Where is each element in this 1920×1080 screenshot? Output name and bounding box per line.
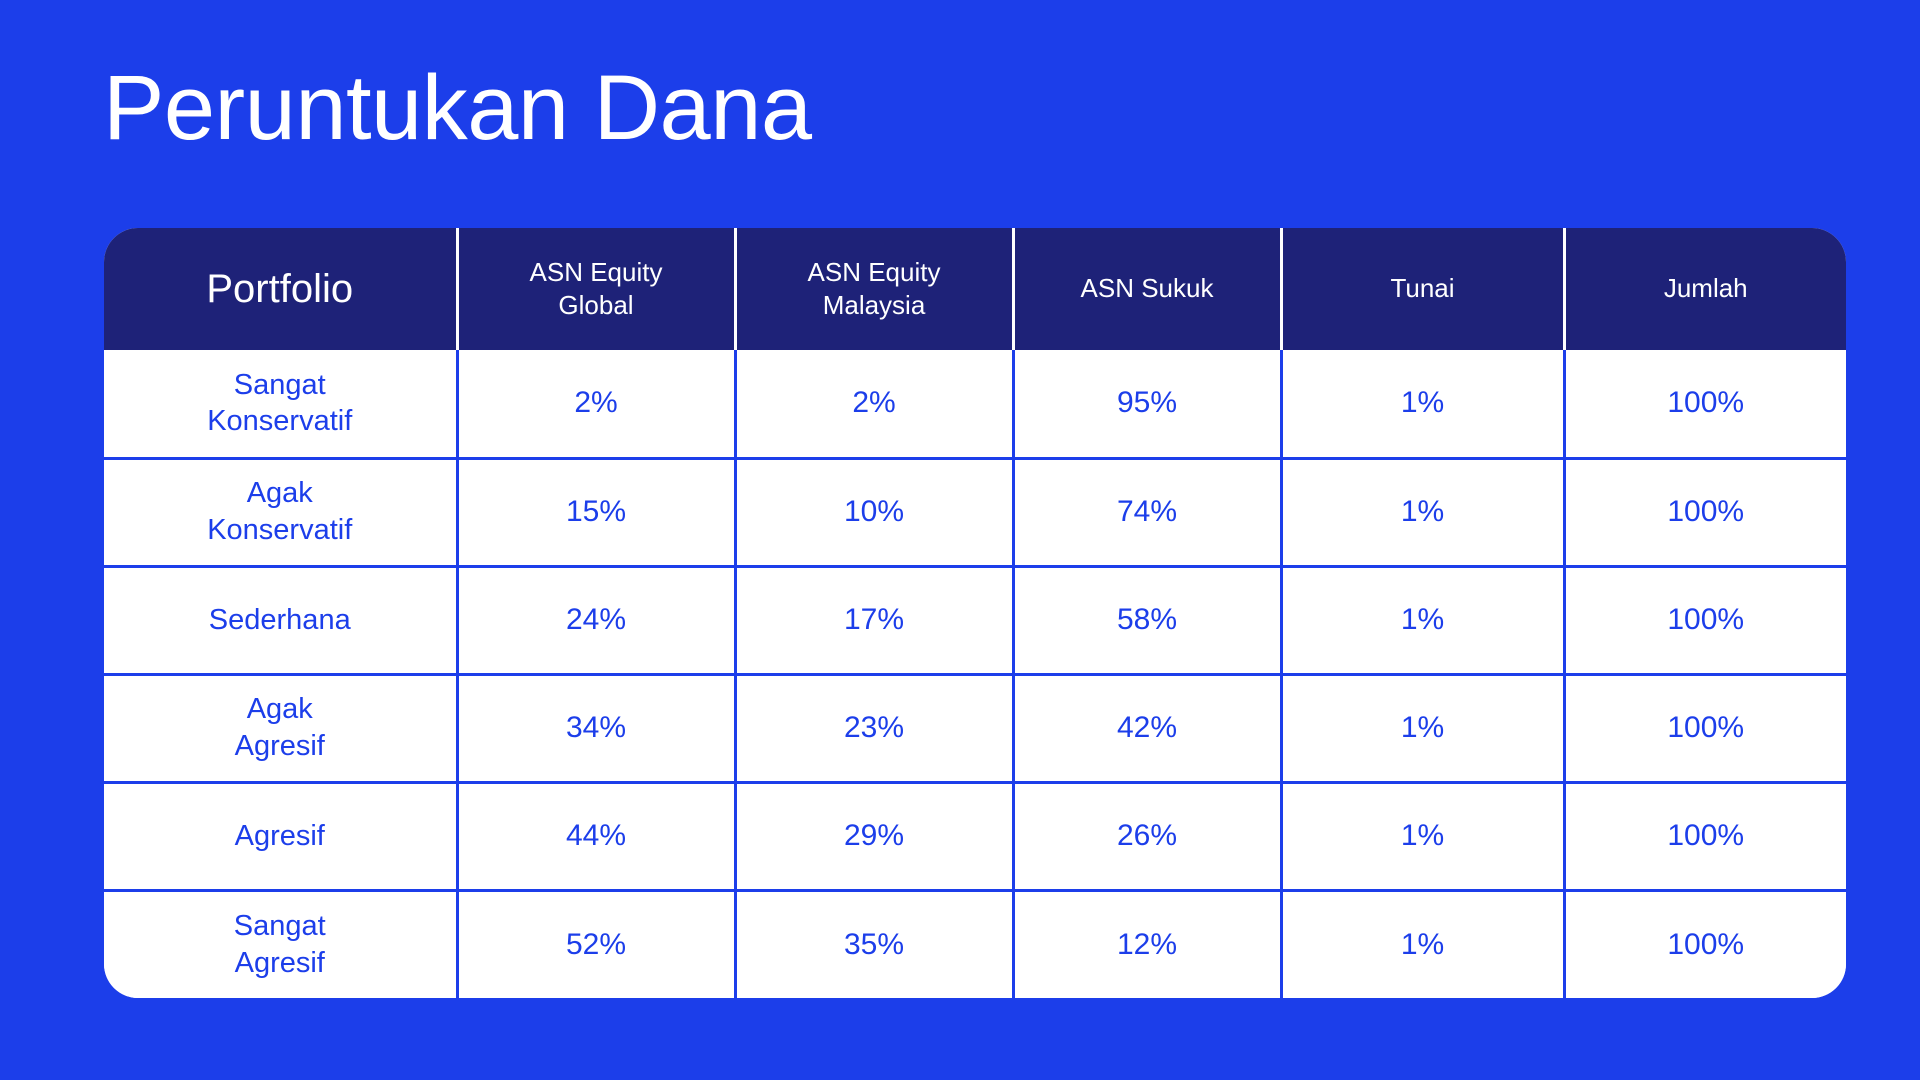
column-header-tunai: Tunai <box>1281 228 1564 350</box>
cell-jumlah: 100% <box>1564 566 1846 674</box>
cell-portfolio-line1: Sangat <box>114 367 446 404</box>
cell-jumlah: 100% <box>1564 782 1846 890</box>
column-header-asn-sukuk-line1: ASN Sukuk <box>1023 272 1272 305</box>
column-header-asn-equity-global-line2: Global <box>467 289 726 322</box>
cell-tunai: 1% <box>1281 350 1564 458</box>
table-row: Sangat Agresif 52% 35% 12% 1% 100% <box>104 890 1846 998</box>
cell-asn-equity-global: 52% <box>457 890 735 998</box>
column-header-portfolio-line1: Portfolio <box>112 267 448 311</box>
column-header-asn-equity-malaysia-line2: Malaysia <box>745 289 1004 322</box>
cell-portfolio-line1: Agak <box>114 475 446 512</box>
cell-asn-equity-malaysia: 23% <box>735 674 1013 782</box>
cell-portfolio-line2: Konservatif <box>114 403 446 440</box>
cell-asn-sukuk: 58% <box>1013 566 1281 674</box>
cell-tunai: 1% <box>1281 674 1564 782</box>
cell-jumlah: 100% <box>1564 890 1846 998</box>
cell-tunai: 1% <box>1281 782 1564 890</box>
table-row: Agak Agresif 34% 23% 42% 1% 100% <box>104 674 1846 782</box>
cell-asn-equity-global: 44% <box>457 782 735 890</box>
cell-portfolio: Sangat Agresif <box>104 890 457 998</box>
cell-jumlah: 100% <box>1564 350 1846 458</box>
cell-asn-equity-malaysia: 2% <box>735 350 1013 458</box>
cell-portfolio: Sangat Konservatif <box>104 350 457 458</box>
cell-asn-equity-malaysia: 17% <box>735 566 1013 674</box>
column-header-tunai-line1: Tunai <box>1291 272 1555 305</box>
column-header-asn-equity-malaysia: ASN Equity Malaysia <box>735 228 1013 350</box>
table-body: Sangat Konservatif 2% 2% 95% 1% 100% Aga… <box>104 350 1846 998</box>
column-header-jumlah-line1: Jumlah <box>1574 272 1839 305</box>
cell-portfolio-line1: Agresif <box>114 818 446 855</box>
cell-asn-equity-global: 2% <box>457 350 735 458</box>
page-title: Peruntukan Dana <box>103 62 812 154</box>
cell-asn-sukuk: 42% <box>1013 674 1281 782</box>
table-header: Portfolio ASN Equity Global ASN Equity M… <box>104 228 1846 350</box>
cell-jumlah: 100% <box>1564 458 1846 566</box>
cell-portfolio: Agak Konservatif <box>104 458 457 566</box>
table-row: Agak Konservatif 15% 10% 74% 1% 100% <box>104 458 1846 566</box>
cell-asn-equity-global: 34% <box>457 674 735 782</box>
cell-asn-equity-global: 24% <box>457 566 735 674</box>
column-header-jumlah: Jumlah <box>1564 228 1846 350</box>
table-row: Sangat Konservatif 2% 2% 95% 1% 100% <box>104 350 1846 458</box>
column-header-asn-sukuk: ASN Sukuk <box>1013 228 1281 350</box>
cell-asn-sukuk: 74% <box>1013 458 1281 566</box>
column-header-portfolio: Portfolio <box>104 228 457 350</box>
cell-asn-sukuk: 12% <box>1013 890 1281 998</box>
cell-asn-equity-malaysia: 29% <box>735 782 1013 890</box>
cell-asn-equity-malaysia: 35% <box>735 890 1013 998</box>
cell-portfolio-line2: Agresif <box>114 945 446 982</box>
cell-portfolio-line1: Sangat <box>114 908 446 945</box>
cell-portfolio: Agak Agresif <box>104 674 457 782</box>
cell-tunai: 1% <box>1281 566 1564 674</box>
cell-asn-sukuk: 26% <box>1013 782 1281 890</box>
allocation-table: Portfolio ASN Equity Global ASN Equity M… <box>104 228 1846 998</box>
cell-asn-equity-global: 15% <box>457 458 735 566</box>
allocation-table-container: Portfolio ASN Equity Global ASN Equity M… <box>104 228 1846 998</box>
column-header-asn-equity-global-line1: ASN Equity <box>467 256 726 289</box>
table-row: Agresif 44% 29% 26% 1% 100% <box>104 782 1846 890</box>
cell-portfolio-line1: Agak <box>114 691 446 728</box>
cell-portfolio-line2: Konservatif <box>114 512 446 549</box>
slide-root: Peruntukan Dana Portfolio ASN Equity <box>0 0 1920 1080</box>
column-header-asn-equity-malaysia-line1: ASN Equity <box>745 256 1004 289</box>
cell-asn-equity-malaysia: 10% <box>735 458 1013 566</box>
cell-portfolio-line1: Sederhana <box>114 602 446 639</box>
cell-portfolio: Agresif <box>104 782 457 890</box>
cell-portfolio-line2: Agresif <box>114 728 446 765</box>
table-row: Sederhana 24% 17% 58% 1% 100% <box>104 566 1846 674</box>
column-header-asn-equity-global: ASN Equity Global <box>457 228 735 350</box>
cell-portfolio: Sederhana <box>104 566 457 674</box>
cell-tunai: 1% <box>1281 890 1564 998</box>
cell-jumlah: 100% <box>1564 674 1846 782</box>
cell-tunai: 1% <box>1281 458 1564 566</box>
table-header-row: Portfolio ASN Equity Global ASN Equity M… <box>104 228 1846 350</box>
cell-asn-sukuk: 95% <box>1013 350 1281 458</box>
